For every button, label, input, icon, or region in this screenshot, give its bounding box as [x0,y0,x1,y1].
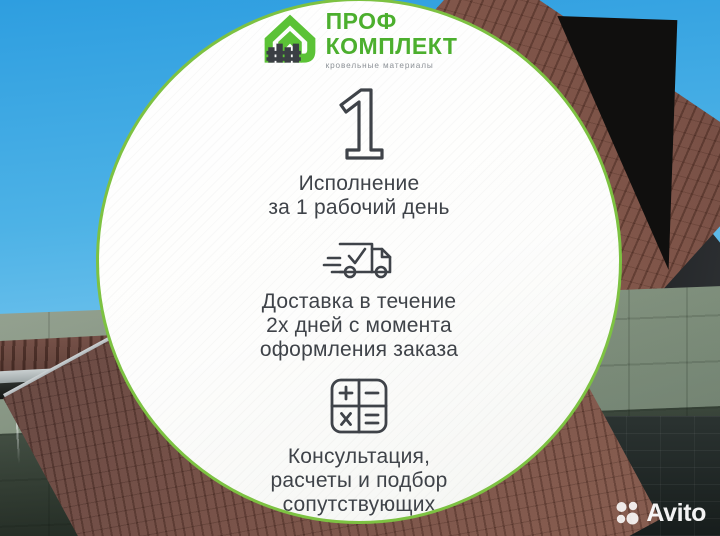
benefit-1-line-2: за 1 рабочий день [268,196,449,220]
benefit-2-line-1: Доставка в течение [260,290,458,314]
brand-name-line1: ПРОФ [326,8,397,34]
brand-tagline: кровельные материалы [326,62,458,70]
benefit-1-text: Исполнение за 1 рабочий день [268,172,449,220]
promo-image: ПРОФ КОМПЛЕКТ кровельные материалы Испол… [0,0,720,536]
benefit-2-line-3: оформления заказа [260,338,458,362]
benefit-3-line-2: расчеты и подбор [270,469,447,493]
green-house-roof-logo-icon [261,11,319,69]
benefit-1-line-1: Исполнение [268,172,449,196]
calculator-icon [329,377,389,440]
benefit-3-text: Консультация, расчеты и подбор сопутству… [270,445,447,524]
info-circle-panel: ПРОФ КОМПЛЕКТ кровельные материалы Испол… [96,0,622,524]
benefit-3-line-3: сопутствующих [270,493,447,517]
avito-label: Avito [646,501,706,526]
delivery-truck-check-icon [320,236,398,285]
benefit-3-line-1: Консультация, [270,445,447,469]
brand-name-line2: КОМПЛЕКТ [326,35,458,58]
brand-logo: ПРОФ КОМПЛЕКТ кровельные материалы [261,10,458,70]
avito-logo-icon [615,500,641,526]
benefit-2-line-2: 2х дней с момента [260,314,458,338]
number-one-outline-icon [328,86,390,167]
brand-logo-text: ПРОФ КОМПЛЕКТ кровельные материалы [326,10,458,70]
benefit-2-text: Доставка в течение 2х дней с момента офо… [260,290,458,362]
avito-watermark: Avito [615,500,706,526]
